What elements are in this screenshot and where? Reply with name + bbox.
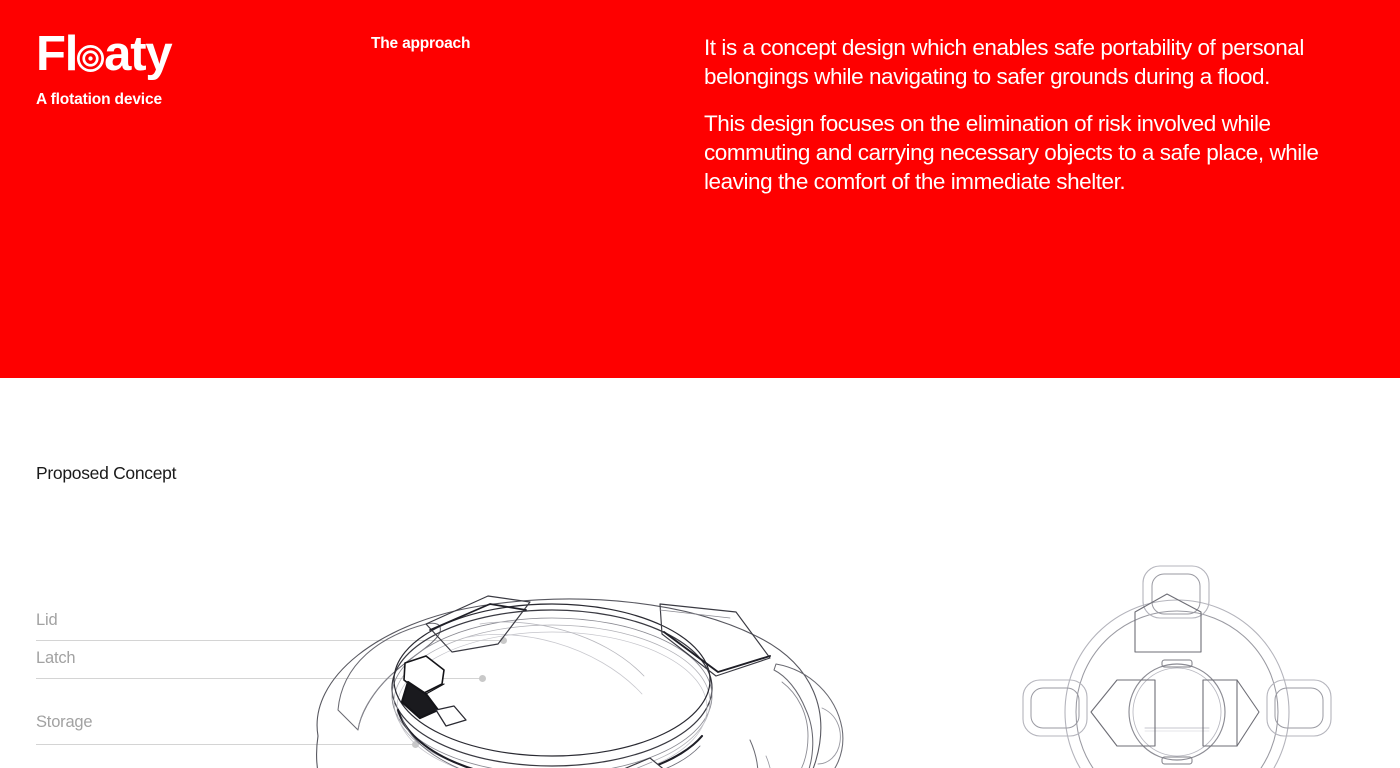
product-illustration-perspective bbox=[230, 560, 870, 768]
product-illustration-top-view bbox=[1035, 560, 1320, 768]
annotation-label-latch: Latch bbox=[36, 649, 75, 668]
annotation-label-storage: Storage bbox=[36, 713, 92, 732]
page-root: Fl aty A flotation device The approach I… bbox=[0, 0, 1400, 768]
annotation-label-lid: Lid bbox=[36, 611, 57, 630]
